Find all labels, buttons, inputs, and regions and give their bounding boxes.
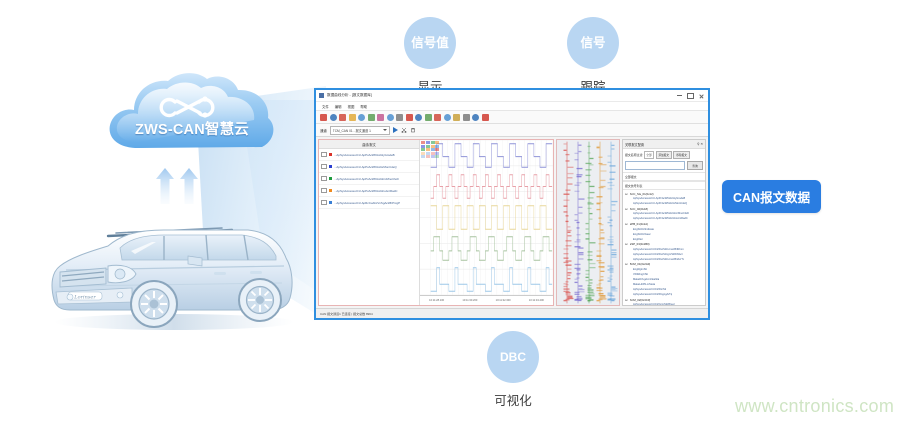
channel-toolbar[interactable]: 通道 TCM_CAN 01 - 报文通道 1 [316, 124, 708, 137]
tree-node-label: ACM_02(0x3C0) [630, 298, 651, 302]
expand-icon[interactable]: ⊟ [625, 207, 628, 211]
expand-icon[interactable]: ⊟ [625, 262, 628, 266]
zoom-out-icon[interactable] [396, 114, 403, 121]
section-label: 全部报文 [625, 175, 637, 179]
tree-leaf-label: ApSysAccessorCU.ApPcAcWhlAcGbrcMnoCfeD [633, 212, 689, 215]
axis-tick: 10:11:32.300 [496, 299, 511, 302]
panel-title: 关联报文配置 [625, 142, 644, 147]
expand-icon[interactable]: ⊟ [625, 222, 628, 226]
signal-name: ...ApSysAccessorCU.ApPcAcWhlAcGlyGrodeB [334, 153, 417, 157]
signal-color-swatch [329, 177, 333, 181]
grid-icon[interactable] [368, 114, 375, 121]
window-controls[interactable] [677, 93, 703, 99]
tree-node-label: ACC_Sts_01(0x12) [630, 192, 654, 196]
tree-node-label: ACC_02(0x18) [630, 207, 649, 211]
expand-icon[interactable]: ⊟ [625, 298, 628, 302]
save-icon[interactable] [358, 114, 365, 121]
cursor-icon[interactable] [415, 114, 422, 121]
pin-icon[interactable]: ⚲ ✕ [697, 142, 703, 146]
signal-name: ...ApSysAccessorCU.ApPcAcWhlAcGrMonCdeQ [334, 165, 417, 169]
fit-icon[interactable] [406, 114, 413, 121]
tracking-svg [557, 140, 619, 305]
signal-name: ...ApSysAccessorCU.ApRcCuAbcVnSgAcWhPrcg… [334, 201, 417, 205]
channel-select-value: TCM_CAN 01 - 报文通道 1 [333, 128, 381, 133]
export-icon[interactable] [444, 114, 451, 121]
chart-icon[interactable] [377, 114, 384, 121]
tree-leaf-label: ApSysAccessorCU.ApPcAcWhlAcGlyGrodeB [633, 197, 685, 200]
print-icon[interactable] [453, 114, 460, 121]
signal-color-swatch [329, 153, 333, 157]
badge-dbc: DBC 可视化 [486, 331, 540, 409]
badge-dbc-caption: 可视化 [486, 390, 540, 409]
tree-leaf-label: MakeLdtPtLmSteta [633, 283, 655, 286]
signal-row[interactable]: ...ApSysAccessorCU.ApPcAcWhlAcGlyGrodeB [319, 149, 419, 161]
message-tree[interactable]: ⊟ACC_Sts_01(0x12)ApSysAccessorCU.ApPcAcW… [623, 190, 705, 305]
menu-item-view[interactable]: 视图 [348, 104, 355, 109]
signal-row[interactable]: ...ApSysAccessorCU.ApPcAcWhlAcGbrcMnoCfe… [319, 173, 419, 185]
signal-tracking-strip[interactable] [556, 139, 620, 306]
chart-card: 曲线/报文 ...ApSysAccessorCU.ApPcAcWhlAcGlyG… [318, 139, 554, 306]
badge-signal: 信号 跟踪 [566, 17, 620, 95]
value-matrix [420, 140, 442, 296]
tree-leaf-label: ApSysAccessorCUCtrlRngngArTq [633, 293, 672, 296]
tree-leaf-label: ApSysAccessorCUCtrlDurSttCvmeWhlAcrTq [633, 258, 684, 261]
close-icon[interactable] [699, 94, 703, 98]
signal-color-swatch [329, 165, 333, 169]
badge-signal-value-circle: 信号值 [404, 17, 456, 69]
infographic-stage: ZWS-CAN智慧云 [0, 0, 921, 424]
search-input[interactable] [625, 161, 685, 170]
signal-checkbox[interactable] [321, 188, 327, 194]
tree-leaf-label: ApSysAccessorCU.ApPcAcWhlAcGhoArcRadC [633, 217, 688, 220]
status-text: CAN 报文通道1 已连接 | 报文总数 8964 [320, 312, 373, 316]
ruler-icon[interactable] [434, 114, 441, 121]
stop-icon[interactable] [330, 114, 337, 121]
svg-text:Lorinser: Lorinser [73, 294, 96, 300]
expand-icon[interactable]: ⊟ [625, 242, 628, 246]
minimize-icon[interactable] [677, 95, 682, 96]
subtitle-row: 报文信号列表 [623, 181, 705, 190]
tree-leaf-label: EngSttCtrlGear [633, 233, 651, 236]
cloud-logo: ZWS-CAN智慧云 [104, 70, 280, 158]
cloud-label: ZWS-CAN智慧云 [104, 118, 280, 139]
signal-checkbox[interactable] [321, 164, 327, 170]
search-row[interactable]: 查询 [623, 161, 705, 172]
zoom-in-icon[interactable] [387, 114, 394, 121]
settings-icon[interactable] [472, 114, 479, 121]
signal-color-swatch [329, 201, 333, 205]
badge-dbc-circle: DBC [487, 331, 539, 383]
plot-area: 10:11:28.10010:11:30.20010:11:32.30010:1… [420, 140, 553, 305]
tree-leaf-label: VhlRdngCStt [633, 273, 648, 276]
trash-icon[interactable] [410, 127, 416, 133]
tree-leaf[interactable]: ApSysAccessorCUCtrlGrmSttWheel [625, 302, 703, 305]
filter-icon[interactable] [463, 114, 470, 121]
filter-label: 报文名称过滤 [625, 153, 642, 157]
add-message-button[interactable]: 添加报文 [656, 151, 672, 159]
value-cell [421, 155, 425, 158]
app-window: 数据曲线分析 - [报文数据库] 文件 编辑 视图 帮助 通道 TCM_CAN … [314, 88, 710, 320]
title-bar: 数据曲线分析 - [报文数据库] [316, 90, 708, 102]
axis-tick: 10:11:28.100 [429, 299, 444, 302]
badge-signal-value: 信号值 显示 [403, 17, 457, 95]
tree-leaf-label: ApSysAccessorCUCtrlDrcStt [633, 288, 666, 291]
window-body: 曲线/报文 ...ApSysAccessorCU.ApPcAcWhlAcGlyG… [316, 137, 708, 308]
tree-leaf-label: ApSysAccessorCU.ApPcAcWhlAcGrMonCdeQ [633, 202, 687, 205]
channel-select[interactable]: TCM_CAN 01 - 报文通道 1 [330, 126, 390, 135]
section-row: 全部报文 [623, 172, 705, 181]
time-axis: 10:11:28.10010:11:30.20010:11:32.30010:1… [420, 295, 553, 305]
signal-row[interactable]: ...ApSysAccessorCU.ApPcAcWhlAcGhoArcRadC [319, 185, 419, 197]
axis-tick: 10:11:30.200 [462, 299, 477, 302]
tree-leaf-label: EngRgtmStt [633, 268, 647, 271]
tree-leaf-label: ApSysAccessorCUCtrlDurSttCvmeWhlRtnm [633, 248, 684, 251]
value-cell [435, 155, 439, 158]
panel-header: 关联报文配置 ⚲ ✕ [623, 140, 705, 149]
menu-item-help[interactable]: 帮助 [360, 104, 367, 109]
window-title: 数据曲线分析 - [报文数据库] [327, 93, 677, 98]
pause-icon[interactable] [339, 114, 346, 121]
remove-message-button[interactable]: 移除报文 [673, 151, 689, 159]
signal-checkbox[interactable] [321, 200, 327, 206]
tree-subtitle: 报文信号列表 [625, 184, 642, 188]
message-config-panel: 关联报文配置 ⚲ ✕ 报文名称过滤 全部 添加报文 移除报文 查询 全部报文 [622, 139, 706, 306]
cloud-shape [104, 70, 280, 158]
axis-tick: 10:11:34.400 [529, 299, 544, 302]
menu-item-edit[interactable]: 编辑 [335, 104, 342, 109]
search-button[interactable]: 查询 [687, 161, 703, 170]
signal-legend-header: 曲线/报文 [319, 140, 419, 149]
scissors-icon[interactable] [401, 127, 407, 133]
signal-color-swatch [329, 189, 333, 193]
marker-icon[interactable] [425, 114, 432, 121]
signal-row[interactable]: ...ApSysAccessorCU.ApRcCuAbcVnSgAcWhPrcg… [319, 197, 419, 209]
signal-name: ...ApSysAccessorCU.ApPcAcWhlAcGhoArcRadC [334, 189, 417, 193]
help-icon[interactable] [482, 114, 489, 121]
status-bar: CAN 报文通道1 已连接 | 报文总数 8964 [316, 308, 708, 318]
app-icon [319, 93, 324, 98]
tree-leaf-label: ApSysAccessorCUCtrlGrmSttWheel [633, 303, 675, 305]
open-icon[interactable] [349, 114, 356, 121]
panel-filter-row[interactable]: 报文名称过滤 全部 添加报文 移除报文 [623, 149, 705, 161]
maximize-icon[interactable] [687, 93, 694, 99]
can-message-data-tag: CAN报文数据 [722, 180, 821, 213]
filter-select[interactable]: 全部 [644, 151, 654, 159]
expand-icon[interactable]: ⊟ [625, 192, 628, 196]
play-icon[interactable] [393, 127, 398, 133]
tree-leaf-label: EngSttCtrlIndicate [633, 228, 654, 231]
tree-leaf-label: MakeDrlvgAcmNeaSta [633, 278, 659, 281]
tree-leaf-label: ApSysAccessorCUCtrlDurStCgnrSttWhlAcr [633, 253, 683, 256]
record-icon[interactable] [320, 114, 327, 121]
site-watermark: www.cntronics.com [735, 396, 894, 417]
value-cell [426, 155, 430, 158]
tree-node-label: ESP_03(0x1B0) [630, 242, 650, 246]
tree-node-label: EPB_01(0x1A) [630, 222, 649, 226]
tree-node-label: BCM_01(0x2A0) [630, 262, 651, 266]
value-cell [431, 155, 435, 158]
tree-leaf-label: EngFlter [633, 238, 643, 241]
menu-item-file[interactable]: 文件 [322, 104, 329, 109]
channel-label: 通道 [320, 128, 327, 133]
signal-name: ...ApSysAccessorCU.ApPcAcWhlAcGbrcMnoCfe… [334, 177, 417, 181]
signal-checkbox[interactable] [321, 152, 327, 158]
signal-row[interactable]: ...ApSysAccessorCU.ApPcAcWhlAcGrMonCdeQ [319, 161, 419, 173]
signal-legend-panel[interactable]: 曲线/报文 ...ApSysAccessorCU.ApPcAcWhlAcGlyG… [319, 140, 420, 305]
signal-checkbox[interactable] [321, 176, 327, 182]
menu-bar[interactable]: 文件 编辑 视图 帮助 [316, 102, 708, 110]
chevron-down-icon [383, 129, 387, 131]
value-row [421, 155, 441, 158]
car-illustration: Lorinser [36, 196, 306, 332]
badge-signal-circle: 信号 [567, 17, 619, 69]
main-toolbar[interactable] [316, 110, 708, 124]
